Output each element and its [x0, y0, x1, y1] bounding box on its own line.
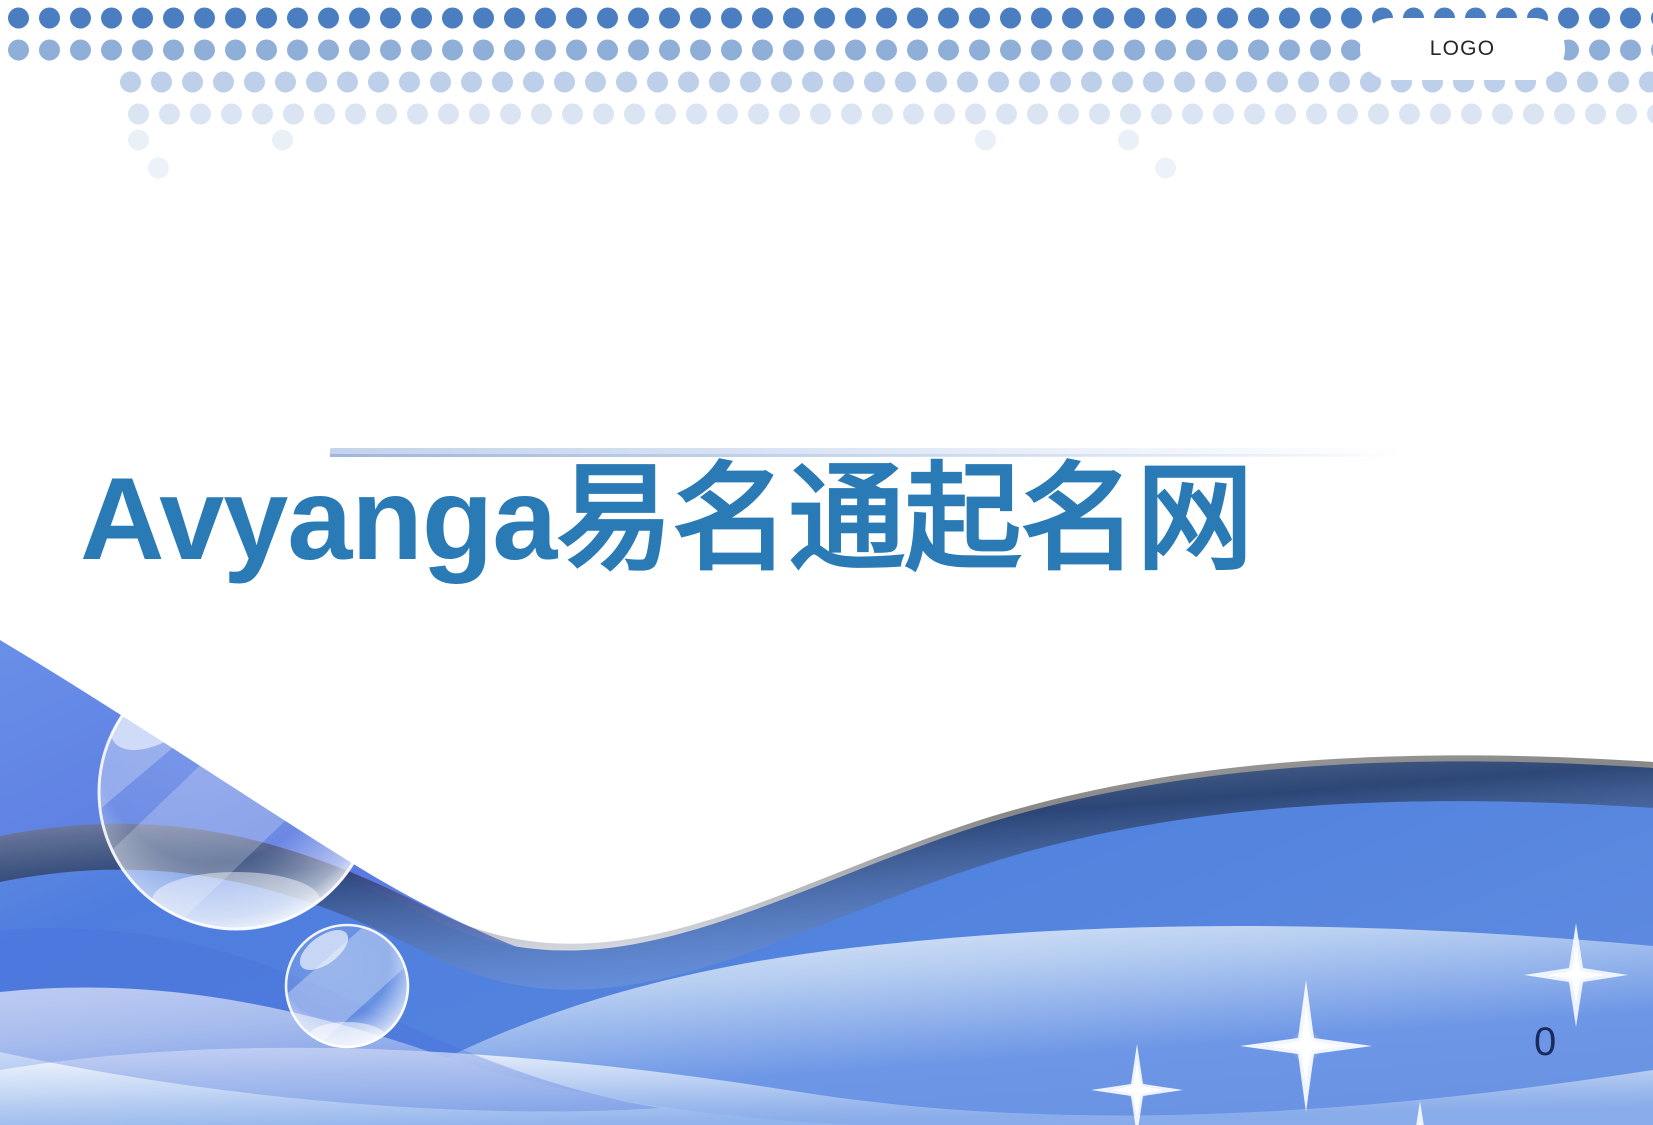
wave-bubbles-decoration — [0, 600, 1653, 1125]
dot-row-4 — [128, 104, 1653, 125]
dot-row-6 — [148, 158, 1176, 179]
page-title: Avyanga易名通起名网 — [80, 444, 1580, 594]
dot-row-5 — [128, 130, 1139, 151]
presentation-slide: LOGO Avyanga易名通起名网 — [0, 0, 1653, 1125]
page-number: 0 — [1534, 1020, 1556, 1065]
logo-badge[interactable]: LOGO — [1360, 18, 1565, 80]
logo-label: LOGO — [1430, 37, 1495, 61]
